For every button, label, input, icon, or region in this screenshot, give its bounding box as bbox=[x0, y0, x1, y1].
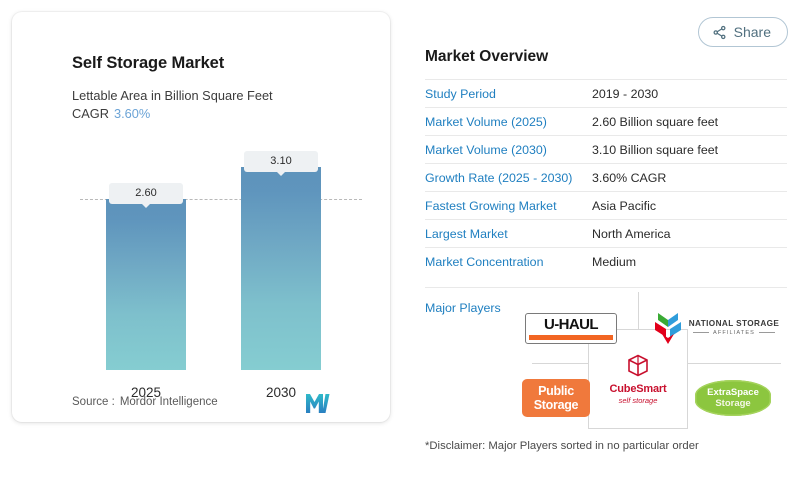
national-storage-affiliates-mark-icon bbox=[653, 310, 683, 344]
disclaimer-text: *Disclaimer: Major Players sorted in no … bbox=[425, 440, 699, 452]
bar-value-label-2030: 3.10 bbox=[244, 151, 318, 172]
cagr-label: CAGR bbox=[72, 106, 109, 121]
source-label: Source : bbox=[72, 396, 115, 408]
extra-space-logo-line1: ExtraSpace bbox=[707, 387, 759, 398]
cagr-row: CAGR 3.60% bbox=[72, 106, 150, 121]
table-row: Market Volume (2030) 3.10 Billion square… bbox=[425, 135, 787, 163]
major-players-logos: U-HAUL NATIONAL STORAGE AFFILIATES bbox=[505, 292, 787, 432]
table-row: Fastest Growing Market Asia Pacific bbox=[425, 191, 787, 219]
cagr-value: 3.60% bbox=[114, 106, 150, 121]
u-haul-logo-bar bbox=[529, 335, 613, 340]
table-row: Market Volume (2025) 2.60 Billion square… bbox=[425, 107, 787, 135]
row-label: Fastest Growing Market bbox=[425, 199, 592, 213]
share-nodes-icon bbox=[712, 25, 727, 40]
row-value: North America bbox=[592, 227, 671, 241]
row-value: 2019 - 2030 bbox=[592, 87, 658, 101]
row-label: Study Period bbox=[425, 87, 592, 101]
row-value: Medium bbox=[592, 255, 636, 269]
national-storage-logo-text: NATIONAL STORAGE bbox=[689, 319, 780, 328]
row-label: Growth Rate (2025 - 2030) bbox=[425, 171, 592, 185]
u-haul-logo-text: U-HAUL bbox=[528, 316, 614, 334]
cubesmart-logo-subtext: self storage bbox=[619, 396, 658, 405]
public-storage-logo-line1: Public bbox=[538, 384, 574, 398]
extra-space-logo-line2: Storage bbox=[715, 398, 750, 409]
row-value: 3.10 Billion square feet bbox=[592, 143, 718, 157]
bar-2025[interactable] bbox=[106, 199, 186, 370]
cubesmart-cube-icon bbox=[625, 353, 651, 379]
table-row: Market Concentration Medium bbox=[425, 247, 787, 275]
chart-subtitle: Lettable Area in Billion Square Feet bbox=[72, 88, 273, 103]
row-label: Market Concentration bbox=[425, 255, 592, 269]
bar-value-label-2025: 2.60 bbox=[109, 183, 183, 204]
source-name: Mordor Intelligence bbox=[120, 396, 218, 408]
row-label: Market Volume (2030) bbox=[425, 143, 592, 157]
bar-chart-plot-area: 2.60 3.10 2025 2030 bbox=[28, 142, 374, 377]
row-value: Asia Pacific bbox=[592, 199, 656, 213]
table-row: Study Period 2019 - 2030 bbox=[425, 79, 787, 107]
mordor-intelligence-logo-icon bbox=[306, 394, 332, 413]
table-row: Largest Market North America bbox=[425, 219, 787, 247]
row-value: 2.60 Billion square feet bbox=[592, 115, 718, 129]
chart-title: Self Storage Market bbox=[72, 54, 224, 73]
row-value: 3.60% CAGR bbox=[592, 171, 666, 185]
source-row: Source : Mordor Intelligence bbox=[72, 396, 218, 408]
cubesmart-logo-text: CubeSmart bbox=[610, 383, 667, 395]
row-label: Largest Market bbox=[425, 227, 592, 241]
market-overview-page: Share Self Storage Market Lettable Area … bbox=[0, 0, 800, 482]
extra-space-storage-logo: ExtraSpace Storage bbox=[691, 376, 775, 420]
cubesmart-logo: CubeSmart self storage bbox=[595, 340, 681, 418]
market-overview-panel: Market Overview Study Period 2019 - 2030… bbox=[425, 48, 787, 315]
table-row: Growth Rate (2025 - 2030) 3.60% CAGR bbox=[425, 163, 787, 191]
national-storage-logo-subtext: AFFILIATES bbox=[693, 330, 775, 336]
public-storage-logo-line2: Storage bbox=[534, 398, 578, 412]
public-storage-logo: Public Storage bbox=[518, 377, 594, 419]
bar-2030[interactable] bbox=[241, 167, 321, 370]
row-label: Market Volume (2025) bbox=[425, 115, 592, 129]
overview-title: Market Overview bbox=[425, 48, 787, 66]
share-button-label: Share bbox=[734, 24, 771, 40]
share-button[interactable]: Share bbox=[698, 17, 788, 47]
chart-card: Self Storage Market Lettable Area in Bil… bbox=[12, 12, 390, 422]
